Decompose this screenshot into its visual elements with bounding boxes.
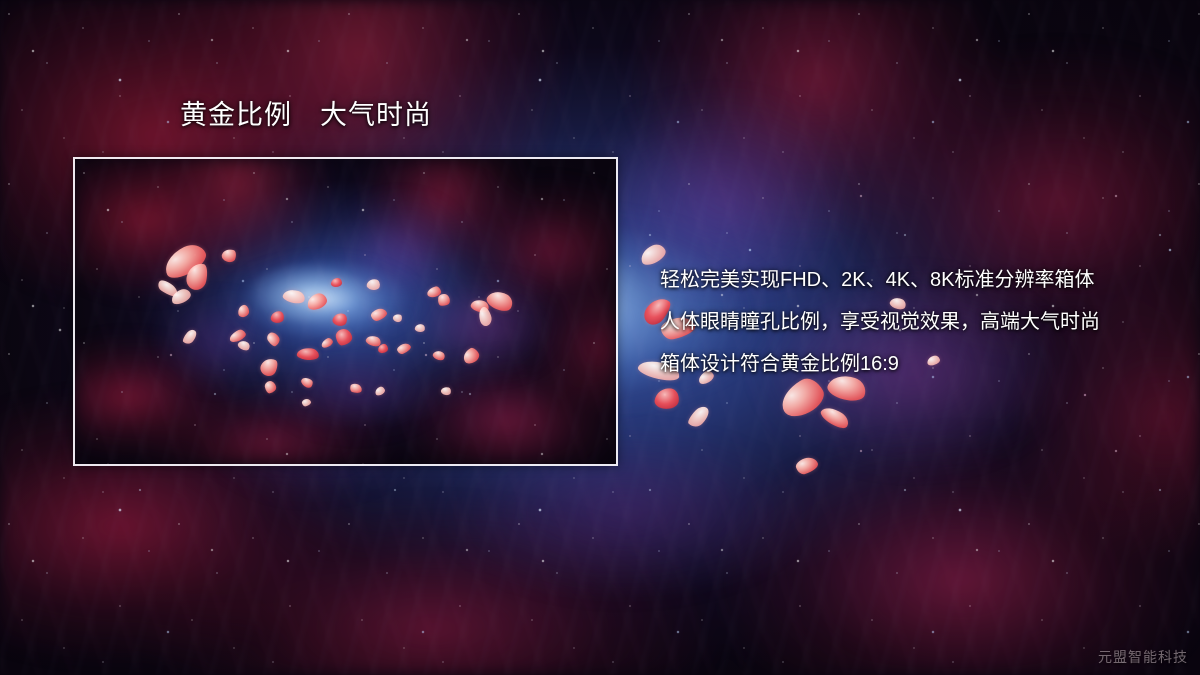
panel-nebula-filament: [75, 159, 616, 464]
petal-shape: [331, 311, 349, 328]
petal-shape: [794, 455, 820, 476]
panel-nebula-crimson: [75, 159, 616, 464]
image-panel-content: [75, 159, 616, 464]
petal-shape: [264, 380, 277, 394]
petal-shape: [437, 293, 451, 307]
petal-shape: [156, 278, 180, 299]
petal-shape: [426, 285, 442, 298]
petal-shape: [686, 404, 713, 431]
petal-shape: [265, 330, 282, 348]
body-line-3: 箱体设计符合黄金比例16:9: [660, 343, 1180, 385]
panel-starfield-medium: [75, 159, 616, 464]
petal-shape: [335, 328, 354, 347]
petal-shape: [818, 403, 851, 432]
petal-shape: [440, 386, 451, 396]
petal-shape: [181, 328, 199, 347]
petal-shape: [365, 334, 383, 349]
panel-nebula-violet: [75, 159, 616, 464]
panel-nebula-base: [75, 159, 616, 464]
panel-nebula-core: [75, 159, 616, 464]
petal-shape: [160, 240, 211, 283]
petal-shape: [184, 261, 209, 292]
petal-shape: [320, 337, 334, 350]
image-panel-frame[interactable]: [73, 157, 618, 466]
petal-shape: [414, 323, 425, 333]
petal-shape: [169, 287, 192, 306]
petal-shape: [296, 347, 319, 362]
petal-shape: [237, 339, 252, 353]
petal-shape: [300, 375, 315, 389]
petal-shape: [270, 310, 285, 324]
petal-shape: [484, 287, 515, 315]
page-title: 黄金比例 大气时尚: [180, 102, 432, 129]
petal-shape: [654, 386, 681, 410]
petal-shape: [282, 287, 307, 306]
petal-shape: [258, 356, 280, 379]
petal-shape: [461, 346, 482, 366]
petal-shape: [366, 278, 381, 292]
petal-shape: [370, 307, 389, 323]
body-copy-block: 轻松完美实现FHD、2K、4K、8K标准分辨率箱体 人体眼睛瞳孔比例，享受视觉效…: [660, 259, 1180, 385]
petal-shape: [432, 349, 447, 363]
petal-shape: [374, 386, 386, 397]
panel-starfield-small: [75, 159, 616, 464]
petal-shape: [378, 344, 389, 354]
petal-shape: [396, 342, 412, 356]
petal-shape: [301, 398, 312, 407]
petal-shape: [228, 328, 248, 344]
body-line-2: 人体眼睛瞳孔比例，享受视觉效果，高端大气时尚: [660, 301, 1180, 343]
presentation-slide: 黄金比例 大气时尚 轻松完美实现FHD、2K、4K、8K标准分辨率箱体 人体眼睛…: [0, 0, 1200, 675]
petal-shape: [305, 292, 328, 312]
petal-shape: [392, 313, 403, 323]
petal-shape: [469, 297, 490, 314]
petal-shape: [349, 383, 363, 395]
company-watermark: 元盟智能科技: [1098, 647, 1188, 667]
petal-shape: [237, 304, 250, 317]
petal-shape: [476, 306, 493, 328]
body-line-1: 轻松完美实现FHD、2K、4K、8K标准分辨率箱体: [660, 259, 1180, 301]
petal-shape: [220, 247, 237, 264]
petal-shape: [331, 278, 342, 287]
